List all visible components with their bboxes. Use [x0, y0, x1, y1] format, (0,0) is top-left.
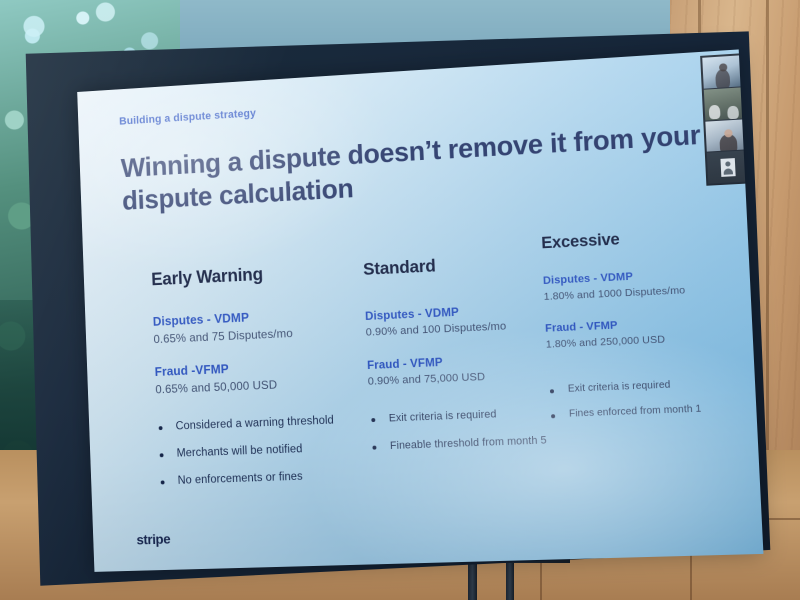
slide-eyebrow: Building a dispute strategy [119, 108, 256, 128]
list-item: Merchants will be notified [158, 441, 364, 460]
metric-disputes: Disputes - VDMP 0.90% and 100 Disputes/m… [365, 301, 548, 339]
stripe-logo: stripe [136, 531, 170, 548]
bullet-list: Exit criteria is required Fineable thres… [369, 406, 553, 452]
avatar [720, 158, 735, 177]
participant-tile-2[interactable] [704, 87, 746, 120]
presentation-screen: Building a dispute strategy Winning a di… [70, 66, 750, 566]
column-heading: Excessive [541, 224, 739, 253]
metric-fraud: Fraud - VFMP 0.90% and 75,000 USD [367, 351, 551, 388]
column-early-warning: Early Warning Disputes - VDMP 0.65% and … [151, 260, 366, 503]
participant-tile-1[interactable] [702, 55, 744, 88]
slide-title: Winning a dispute doesn’t remove it from… [120, 118, 708, 217]
metric-disputes: Disputes - VDMP 0.65% and 75 Disputes/mo [153, 306, 360, 346]
list-item: No enforcements or fines [159, 469, 365, 488]
metric-value: 0.90% and 75,000 USD [368, 368, 551, 387]
list-item: Considered a warning threshold [157, 414, 363, 434]
metric-disputes: Disputes - VDMP 1.80% and 1000 Disputes/… [543, 266, 742, 303]
television: Building a dispute strategy Winning a di… [8, 28, 778, 588]
participant-tile-4[interactable] [707, 151, 749, 184]
list-item: Fineable threshold from month 5 [370, 434, 553, 452]
tier-columns: Early Warning Disputes - VDMP 0.65% and … [125, 241, 724, 271]
bullet-list: Exit criteria is required Fines enforced… [548, 377, 748, 421]
slide: Building a dispute strategy Winning a di… [77, 49, 763, 571]
metric-fraud: Fraud - VFMP 1.80% and 250,000 USD [545, 314, 744, 351]
column-standard: Standard Disputes - VDMP 0.90% and 100 D… [363, 250, 554, 468]
participant-tile-3[interactable] [705, 119, 747, 152]
metric-fraud: Fraud -VFMP 0.65% and 50,000 USD [155, 357, 362, 397]
column-excessive: Excessive Disputes - VDMP 1.80% and 1000… [541, 224, 748, 436]
list-item: Exit criteria is required [548, 377, 746, 396]
bullet-list: Considered a warning threshold Merchants… [157, 414, 365, 488]
column-heading: Early Warning [151, 260, 357, 291]
column-heading: Standard [363, 250, 546, 280]
list-item: Fines enforced from month 1 [549, 402, 747, 421]
video-call-filmstrip[interactable] [700, 53, 751, 186]
list-item: Exit criteria is required [369, 406, 552, 425]
